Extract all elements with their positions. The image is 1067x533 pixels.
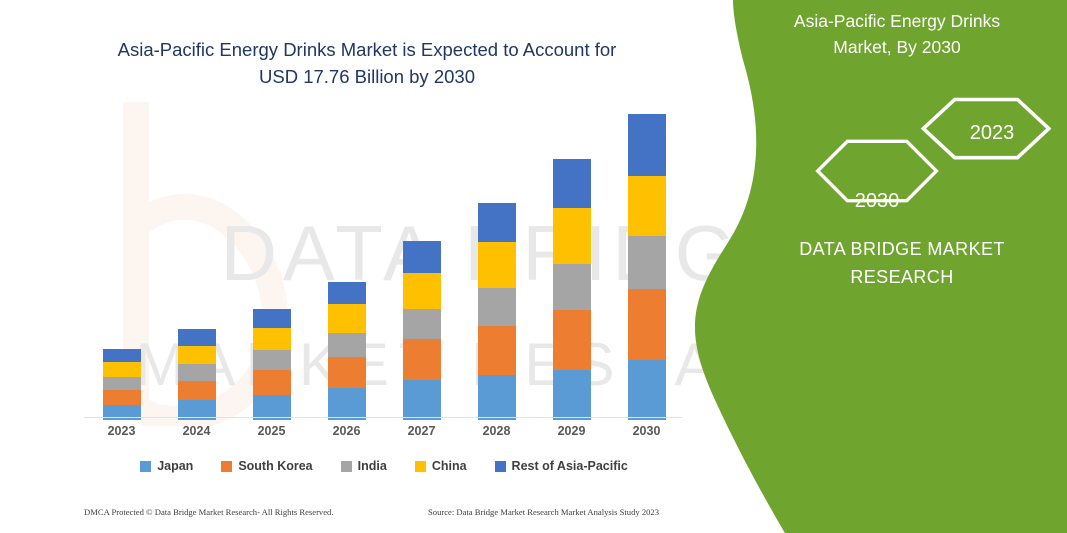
bar-2024[interactable] [178,329,216,420]
chart-title-line-2: USD 17.76 Billion by 2030 [52,63,682,90]
footer: DMCA Protected © Data Bridge Market Rese… [84,507,684,523]
bar-segment-china [178,346,216,365]
bar-segment-rest-of-asia-pacific [403,241,441,273]
bar-2025[interactable] [253,309,291,420]
legend-swatch-icon [341,461,352,472]
bar-segment-south-korea [628,289,666,360]
footer-source: Source: Data Bridge Market Research Mark… [428,507,659,517]
bar-segment-rest-of-asia-pacific [178,329,216,345]
brand-line-1: DATA BRIDGE MARKET [747,235,1057,263]
bar-segment-india [403,309,441,339]
x-axis-tick-2027: 2027 [387,424,457,438]
bar-segment-rest-of-asia-pacific [103,349,141,361]
legend-label: South Korea [238,459,312,473]
x-axis-tick-2024: 2024 [162,424,232,438]
bar-segment-south-korea [553,310,591,370]
legend-swatch-icon [415,461,426,472]
bar-segment-india [478,288,516,326]
bar-segment-india [253,350,291,370]
chart-title: Asia-Pacific Energy Drinks Market is Exp… [52,36,682,90]
x-axis-labels: 20232024202520262027202820292030 [84,424,684,446]
bar-segment-rest-of-asia-pacific [553,159,591,208]
bar-segment-japan [403,380,441,420]
x-axis-tick-2030: 2030 [612,424,682,438]
bar-segment-south-korea [478,326,516,375]
panel-title-line-2: Market, By 2030 [747,34,1047,60]
x-axis-tick-2029: 2029 [537,424,607,438]
bar-segment-japan [328,388,366,420]
bar-segment-south-korea [103,390,141,405]
bar-segment-rest-of-asia-pacific [328,282,366,304]
bar-2030[interactable] [628,114,666,420]
legend-item-south-korea[interactable]: South Korea [221,459,312,473]
chart-legend: JapanSouth KoreaIndiaChinaRest of Asia-P… [84,455,684,477]
bar-segment-south-korea [328,357,366,389]
legend-label: Rest of Asia-Pacific [512,459,628,473]
bar-segment-japan [478,375,516,420]
bar-segment-south-korea [253,370,291,395]
hexagon-2030-label: 2030 [855,190,900,212]
brand-line-2: RESEARCH [747,263,1057,291]
bar-2023[interactable] [103,349,141,420]
infographic-canvas: DATA BRIDGE MARKET RESEARCH Asia-Pacific… [0,0,1067,533]
bar-segment-south-korea [403,339,441,379]
legend-swatch-icon [495,461,506,472]
bar-segment-china [553,208,591,265]
bar-segment-india [553,264,591,310]
bar-segment-south-korea [178,381,216,401]
bar-segment-india [103,377,141,390]
bar-2028[interactable] [478,203,516,420]
legend-swatch-icon [221,461,232,472]
bar-segment-china [403,273,441,309]
hexagon-group: 2023 2030 [792,95,1052,215]
panel-title-line-1: Asia-Pacific Energy Drinks [747,8,1047,34]
bar-segment-china [478,242,516,288]
bar-2029[interactable] [553,159,591,420]
legend-item-rest-of-asia-pacific[interactable]: Rest of Asia-Pacific [495,459,628,473]
bar-segment-china [628,176,666,236]
legend-item-china[interactable]: China [415,459,467,473]
bar-segment-india [178,364,216,380]
chart-title-line-1: Asia-Pacific Energy Drinks Market is Exp… [52,36,682,63]
bar-segment-rest-of-asia-pacific [478,203,516,242]
bar-2026[interactable] [328,282,366,420]
bar-segment-china [328,304,366,332]
bar-segment-china [103,362,141,377]
hexagon-2023-label: 2023 [970,122,1015,144]
legend-item-japan[interactable]: Japan [140,459,193,473]
legend-label: India [358,459,387,473]
bar-segment-india [628,236,666,289]
legend-label: China [432,459,467,473]
panel-title: Asia-Pacific Energy Drinks Market, By 20… [747,8,1047,60]
bar-segment-japan [553,370,591,420]
bar-2027[interactable] [403,241,441,420]
brand-name: DATA BRIDGE MARKET RESEARCH [747,235,1057,291]
legend-swatch-icon [140,461,151,472]
chart-baseline [84,417,682,418]
x-axis-tick-2026: 2026 [312,424,382,438]
x-axis-tick-2025: 2025 [237,424,307,438]
legend-item-india[interactable]: India [341,459,387,473]
footer-copyright: DMCA Protected © Data Bridge Market Rese… [84,507,334,517]
bar-segment-china [253,328,291,351]
bar-segment-rest-of-asia-pacific [628,114,666,176]
bar-segment-japan [628,360,666,420]
x-axis-tick-2028: 2028 [462,424,532,438]
bar-segment-rest-of-asia-pacific [253,309,291,328]
x-axis-tick-2023: 2023 [87,424,157,438]
bar-chart-plot-area [84,110,684,420]
bar-segment-india [328,333,366,357]
legend-label: Japan [157,459,193,473]
brand-panel: Asia-Pacific Energy Drinks Market, By 20… [687,0,1067,533]
